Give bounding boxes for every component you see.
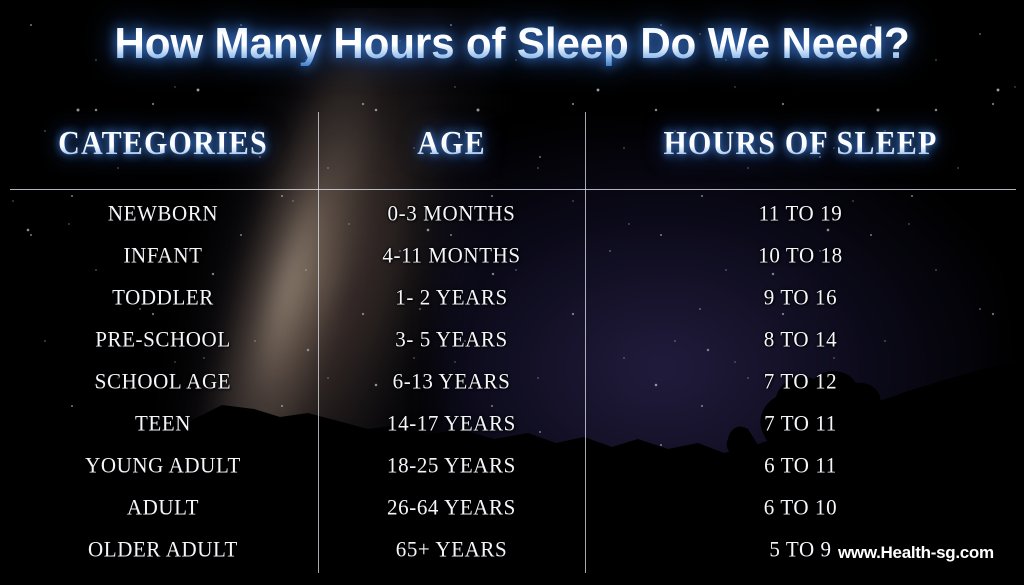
infographic-content: How Many Hours of Sleep Do We Need? CATE… xyxy=(0,0,1024,585)
cell-hours: 8 TO 14 xyxy=(585,326,1016,353)
cell-hours: 10 TO 18 xyxy=(585,242,1016,269)
table-row: NEWBORN 0-3 MONTHS 11 TO 19 xyxy=(8,192,1016,234)
cell-age: 0-3 MONTHS xyxy=(318,200,585,227)
cell-hours: 9 TO 16 xyxy=(585,284,1016,311)
cell-age: 4-11 MONTHS xyxy=(318,242,585,269)
table-row: TEEN 14-17 YEARS 7 TO 11 xyxy=(8,402,1016,444)
cell-age: 6-13 YEARS xyxy=(318,368,585,395)
sleep-hours-infographic: How Many Hours of Sleep Do We Need? CATE… xyxy=(0,0,1024,585)
cell-age: 3- 5 YEARS xyxy=(318,326,585,353)
cell-category: NEWBORN xyxy=(8,200,318,227)
column-header-age: AGE xyxy=(318,127,585,161)
cell-category: PRE-SCHOOL xyxy=(8,326,318,353)
table-row: PRE-SCHOOL 3- 5 YEARS 8 TO 14 xyxy=(8,318,1016,360)
cell-age: 18-25 YEARS xyxy=(318,452,585,479)
watermark-url: www.Health-sg.com xyxy=(838,543,994,563)
cell-hours: 6 TO 11 xyxy=(585,452,1016,479)
header-divider-horizontal xyxy=(10,189,1016,190)
cell-category: TEEN xyxy=(8,410,318,437)
cell-hours: 7 TO 11 xyxy=(585,410,1016,437)
table-row: INFANT 4-11 MONTHS 10 TO 18 xyxy=(8,234,1016,276)
table-body: NEWBORN 0-3 MONTHS 11 TO 19 INFANT 4-11 … xyxy=(8,192,1016,570)
cell-age: 1- 2 YEARS xyxy=(318,284,585,311)
cell-category: SCHOOL AGE xyxy=(8,368,318,395)
cell-age: 14-17 YEARS xyxy=(318,410,585,437)
cell-category: INFANT xyxy=(8,242,318,269)
cell-category: ADULT xyxy=(8,494,318,521)
table-header-row: CATEGORIES AGE HOURS OF SLEEP xyxy=(8,118,1016,170)
table-row: TODDLER 1- 2 YEARS 9 TO 16 xyxy=(8,276,1016,318)
cell-category: OLDER ADULT xyxy=(8,536,318,563)
cell-category: YOUNG ADULT xyxy=(8,452,318,479)
table-row: ADULT 26-64 YEARS 6 TO 10 xyxy=(8,486,1016,528)
column-header-hours-of-sleep: HOURS OF SLEEP xyxy=(585,127,1016,161)
page-title: How Many Hours of Sleep Do We Need? xyxy=(20,22,1003,66)
table-row: SCHOOL AGE 6-13 YEARS 7 TO 12 xyxy=(8,360,1016,402)
table-row: YOUNG ADULT 18-25 YEARS 6 TO 11 xyxy=(8,444,1016,486)
cell-age: 26-64 YEARS xyxy=(318,494,585,521)
cell-age: 65+ YEARS xyxy=(318,536,585,563)
cell-hours: 7 TO 12 xyxy=(585,368,1016,395)
cell-hours: 11 TO 19 xyxy=(585,200,1016,227)
column-header-categories: CATEGORIES xyxy=(8,127,318,161)
cell-hours: 6 TO 10 xyxy=(585,494,1016,521)
cell-category: TODDLER xyxy=(8,284,318,311)
